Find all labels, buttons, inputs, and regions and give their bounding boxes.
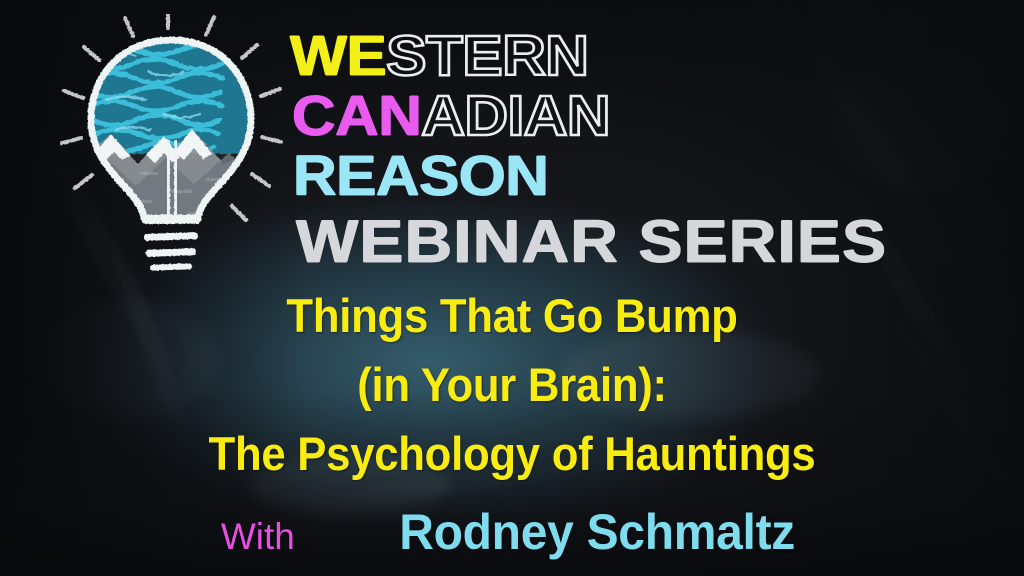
wordmark-can: CAN: [292, 84, 421, 148]
wordmark-line-western: WESTERN: [290, 28, 588, 85]
title-line-1: Things That Go Bump: [36, 281, 988, 350]
wordmark-line-canadian: CANADIAN: [292, 88, 610, 145]
title-line-3: The Psychology of Hauntings: [36, 419, 988, 488]
wordmark-webinar-series: WEBINAR SERIES: [296, 208, 887, 275]
presenter-name: Rodney Schmaltz: [399, 503, 795, 561]
wordmark-stern: STERN: [386, 24, 588, 88]
wordmark-we: WE: [290, 24, 386, 88]
title-line-2: (in Your Brain):: [36, 350, 988, 419]
wordmark-adian: ADIAN: [421, 84, 610, 148]
bulb-base-threads: [142, 217, 200, 271]
wordmark-reason: REASON: [293, 144, 548, 208]
logo-wordmark: WESTERN CANADIAN REASON WEBINAR SERIES: [284, 22, 964, 277]
wordmark-line-webinar-series: WEBINAR SERIES: [296, 212, 887, 272]
presenter-line: With Rodney Schmaltz: [0, 503, 1024, 561]
wordmark-line-reason: REASON: [293, 148, 548, 205]
page-title: Things That Go Bump (in Your Brain): The…: [0, 281, 1024, 488]
webinar-title-slide: WESTERN CANADIAN REASON WEBINAR SERIES T…: [0, 0, 1024, 576]
lightbulb-mountain-icon: [56, 14, 286, 284]
bulb-interior: [76, 29, 266, 229]
with-label: With: [221, 516, 295, 558]
